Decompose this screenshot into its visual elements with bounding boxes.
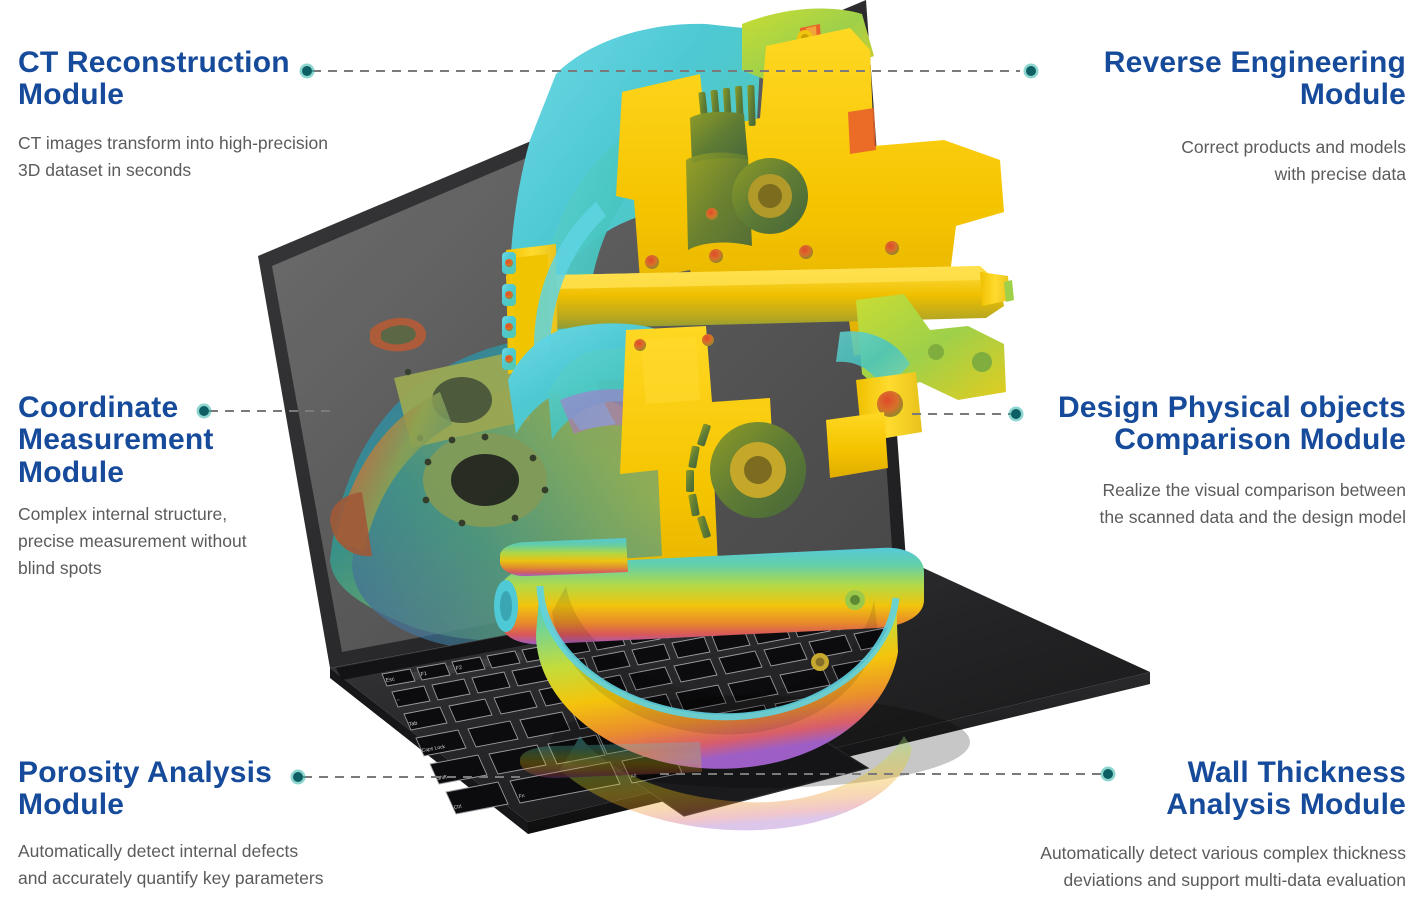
svg-text:Alt: Alt — [630, 773, 637, 780]
callout-title: Porosity Analysis Module — [18, 757, 418, 822]
callout-body: Correct products and models with precise… — [1000, 134, 1406, 188]
callout-body: Realize the visual comparison between th… — [1000, 477, 1406, 531]
callout-title: Reverse Engineering Module — [1000, 47, 1406, 112]
pump-3d-model — [494, 9, 1014, 769]
callout-porosity-analysis: Porosity Analysis Module Automatically d… — [18, 757, 418, 892]
svg-text:~: ~ — [396, 698, 400, 704]
svg-text:Ctrl: Ctrl — [453, 804, 462, 811]
callout-body: Complex internal structure, precise meas… — [18, 501, 348, 582]
svg-text:Fn: Fn — [518, 793, 525, 800]
callout-title: Coordinate Measurement Module — [18, 392, 348, 489]
callout-wall-thickness-analysis: Wall Thickness Analysis Module Automatic… — [960, 757, 1406, 894]
keyboard-keys: Esc F1 F2 ~ Tab Caps Lock Shift Ctrl Fn … — [382, 591, 910, 814]
callout-ct-reconstruction: CT Reconstruction Module CT images trans… — [18, 47, 418, 184]
svg-text:Esc: Esc — [385, 676, 395, 684]
model-reflection — [520, 736, 912, 830]
callout-body: Automatically detect various complex thi… — [960, 840, 1406, 894]
callout-title: Design Physical objects Comparison Modul… — [1000, 392, 1406, 457]
callout-title: Wall Thickness Analysis Module — [960, 757, 1406, 822]
callout-reverse-engineering: Reverse Engineering Module Correct produ… — [1000, 47, 1406, 188]
infographic-root: Esc F1 F2 ~ Tab Caps Lock Shift Ctrl Fn … — [0, 0, 1424, 897]
callout-title: CT Reconstruction Module — [18, 47, 418, 112]
svg-text:Shift: Shift — [436, 774, 447, 782]
callout-coordinate-measurement: Coordinate Measurement Module Complex in… — [18, 392, 348, 583]
callout-design-physical-objects-comparison: Design Physical objects Comparison Modul… — [1000, 392, 1406, 531]
callout-body: CT images transform into high-precision … — [18, 130, 418, 184]
callout-body: Automatically detect internal defects an… — [18, 838, 418, 892]
svg-text:F2: F2 — [455, 665, 462, 672]
svg-text:Caps Lock: Caps Lock — [421, 744, 446, 754]
svg-text:F1: F1 — [420, 671, 427, 678]
svg-text:Tab: Tab — [408, 721, 418, 728]
